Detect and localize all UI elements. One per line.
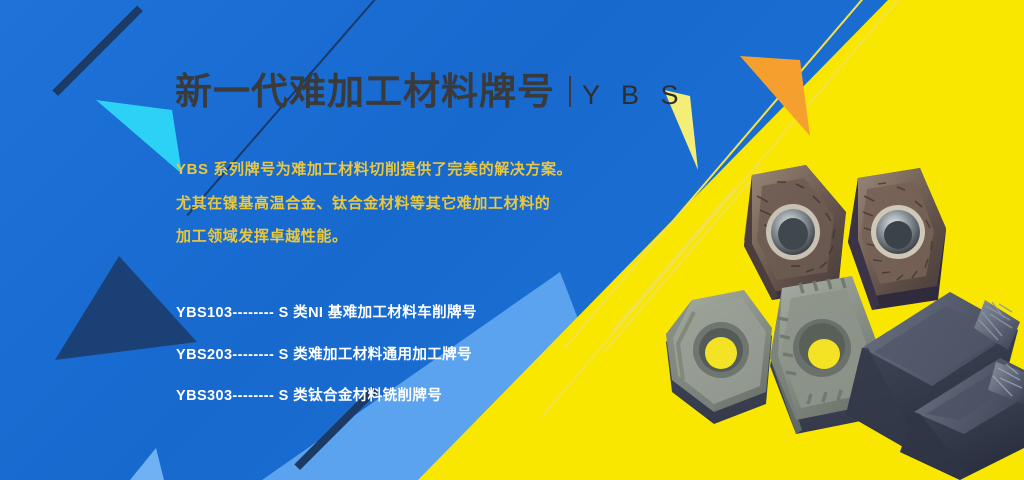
series-item-ybs203: YBS203-------- S 类难加工材料通用加工牌号	[176, 348, 477, 363]
product-banner: 新一代难加工材料牌号 Y B S YBS 系列牌号为难加工材料切削提供了完美的解…	[0, 0, 1024, 480]
banner-text-content: 新一代难加工材料牌号 Y B S YBS 系列牌号为难加工材料切削提供了完美的解…	[0, 0, 620, 480]
description-line: 加工领域发挥卓越性能。	[176, 229, 572, 246]
series-item-ybs303: YBS303-------- S 类钛合金材料铣削牌号	[176, 389, 477, 404]
description-line: 尤其在镍基高温合金、钛合金材料等其它难加工材料的	[176, 196, 572, 213]
title-separator-icon	[569, 76, 571, 107]
description-block: YBS 系列牌号为难加工材料切削提供了完美的解决方案。 尤其在镍基高温合金、钛合…	[176, 162, 572, 263]
series-list: YBS103-------- S 类NI 基难加工材料车削牌号 YBS203--…	[176, 306, 477, 431]
round-milling-insert	[666, 290, 772, 424]
title-sub-text: Y B S	[582, 80, 686, 111]
series-item-ybs103: YBS103-------- S 类NI 基难加工材料车削牌号	[176, 306, 477, 321]
banner-title: 新一代难加工材料牌号 Y B S	[175, 73, 686, 111]
description-line: YBS 系列牌号为难加工材料切削提供了完美的解决方案。	[176, 162, 572, 179]
title-main-text: 新一代难加工材料牌号	[175, 73, 555, 110]
square-turning-insert	[848, 168, 946, 310]
